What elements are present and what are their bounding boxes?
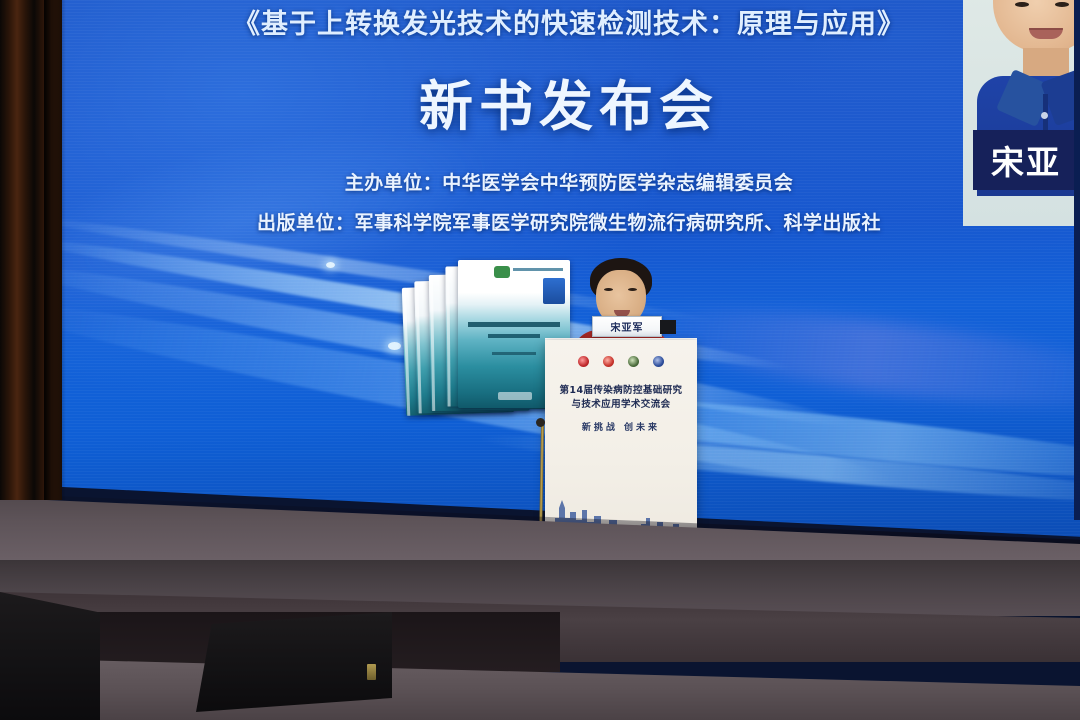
podium-conference-line-1: 第14届传染病防控基础研究 [545, 382, 697, 396]
speaker-eye-right [628, 288, 637, 291]
curtain-shadow-fade [44, 0, 66, 500]
stage-monitor-badge [367, 664, 376, 680]
portrait-face [993, 0, 1080, 52]
logo-red-2-icon [603, 356, 614, 367]
logo-red-1-icon [578, 356, 589, 367]
screen-glow-dot-2 [388, 342, 401, 350]
logo-blue-icon [653, 356, 664, 367]
book-press-mark [498, 392, 532, 400]
book-title-line-1 [468, 322, 560, 327]
book-author-line [492, 352, 536, 355]
stage-monitor-left [0, 592, 100, 720]
desk-name-card: 宋亚军 [592, 316, 662, 337]
screen-glow-dot-1 [326, 262, 335, 268]
desk-dark-object [660, 320, 676, 334]
stage-cable-run [388, 560, 508, 600]
conference-photo: 《基于上转换发光技术的快速检测技术：原理与应用》 新书发布会 主办单位：中华医学… [0, 0, 1080, 720]
podium-logo-row [545, 356, 697, 367]
portrait-button [1041, 112, 1048, 119]
portrait-eye-left [1015, 2, 1029, 7]
speaker-eye-left [604, 288, 613, 291]
portrait-name-text: 宋亚 [991, 136, 1061, 184]
podium-conference-line-2: 与技术应用学术交流会 [545, 396, 697, 410]
book-display [402, 256, 568, 422]
book-title-line-2 [488, 334, 540, 338]
stage-monitor-center [196, 612, 392, 712]
book-corner-badge [543, 278, 565, 304]
podium-slogan: 新挑战 创未来 [545, 420, 697, 433]
microphone-head [536, 418, 545, 427]
book-publisher-logo [494, 266, 510, 278]
slide-book-title: 《基于上转换发光技术的快速检测技术：原理与应用》 [58, 2, 1080, 41]
portrait-eye-right [1055, 2, 1069, 7]
desk-name-card-text: 宋亚军 [611, 319, 644, 334]
slide-publisher-line: 出版单位：军事科学院军事医学研究院微生物流行病研究所、科学出版社 [58, 208, 1080, 235]
slide-headline: 新书发布会 [58, 62, 1080, 141]
portrait-name-band: 宋亚 [973, 130, 1080, 190]
logo-green-icon [628, 356, 639, 367]
screen-right-edge [1074, 0, 1080, 520]
portrait-panel: 宋亚 [963, 0, 1080, 226]
slide-organizer-line: 主办单位：中华医学会中华预防医学杂志编辑委员会 [58, 168, 1080, 195]
book-series-text [513, 268, 563, 271]
